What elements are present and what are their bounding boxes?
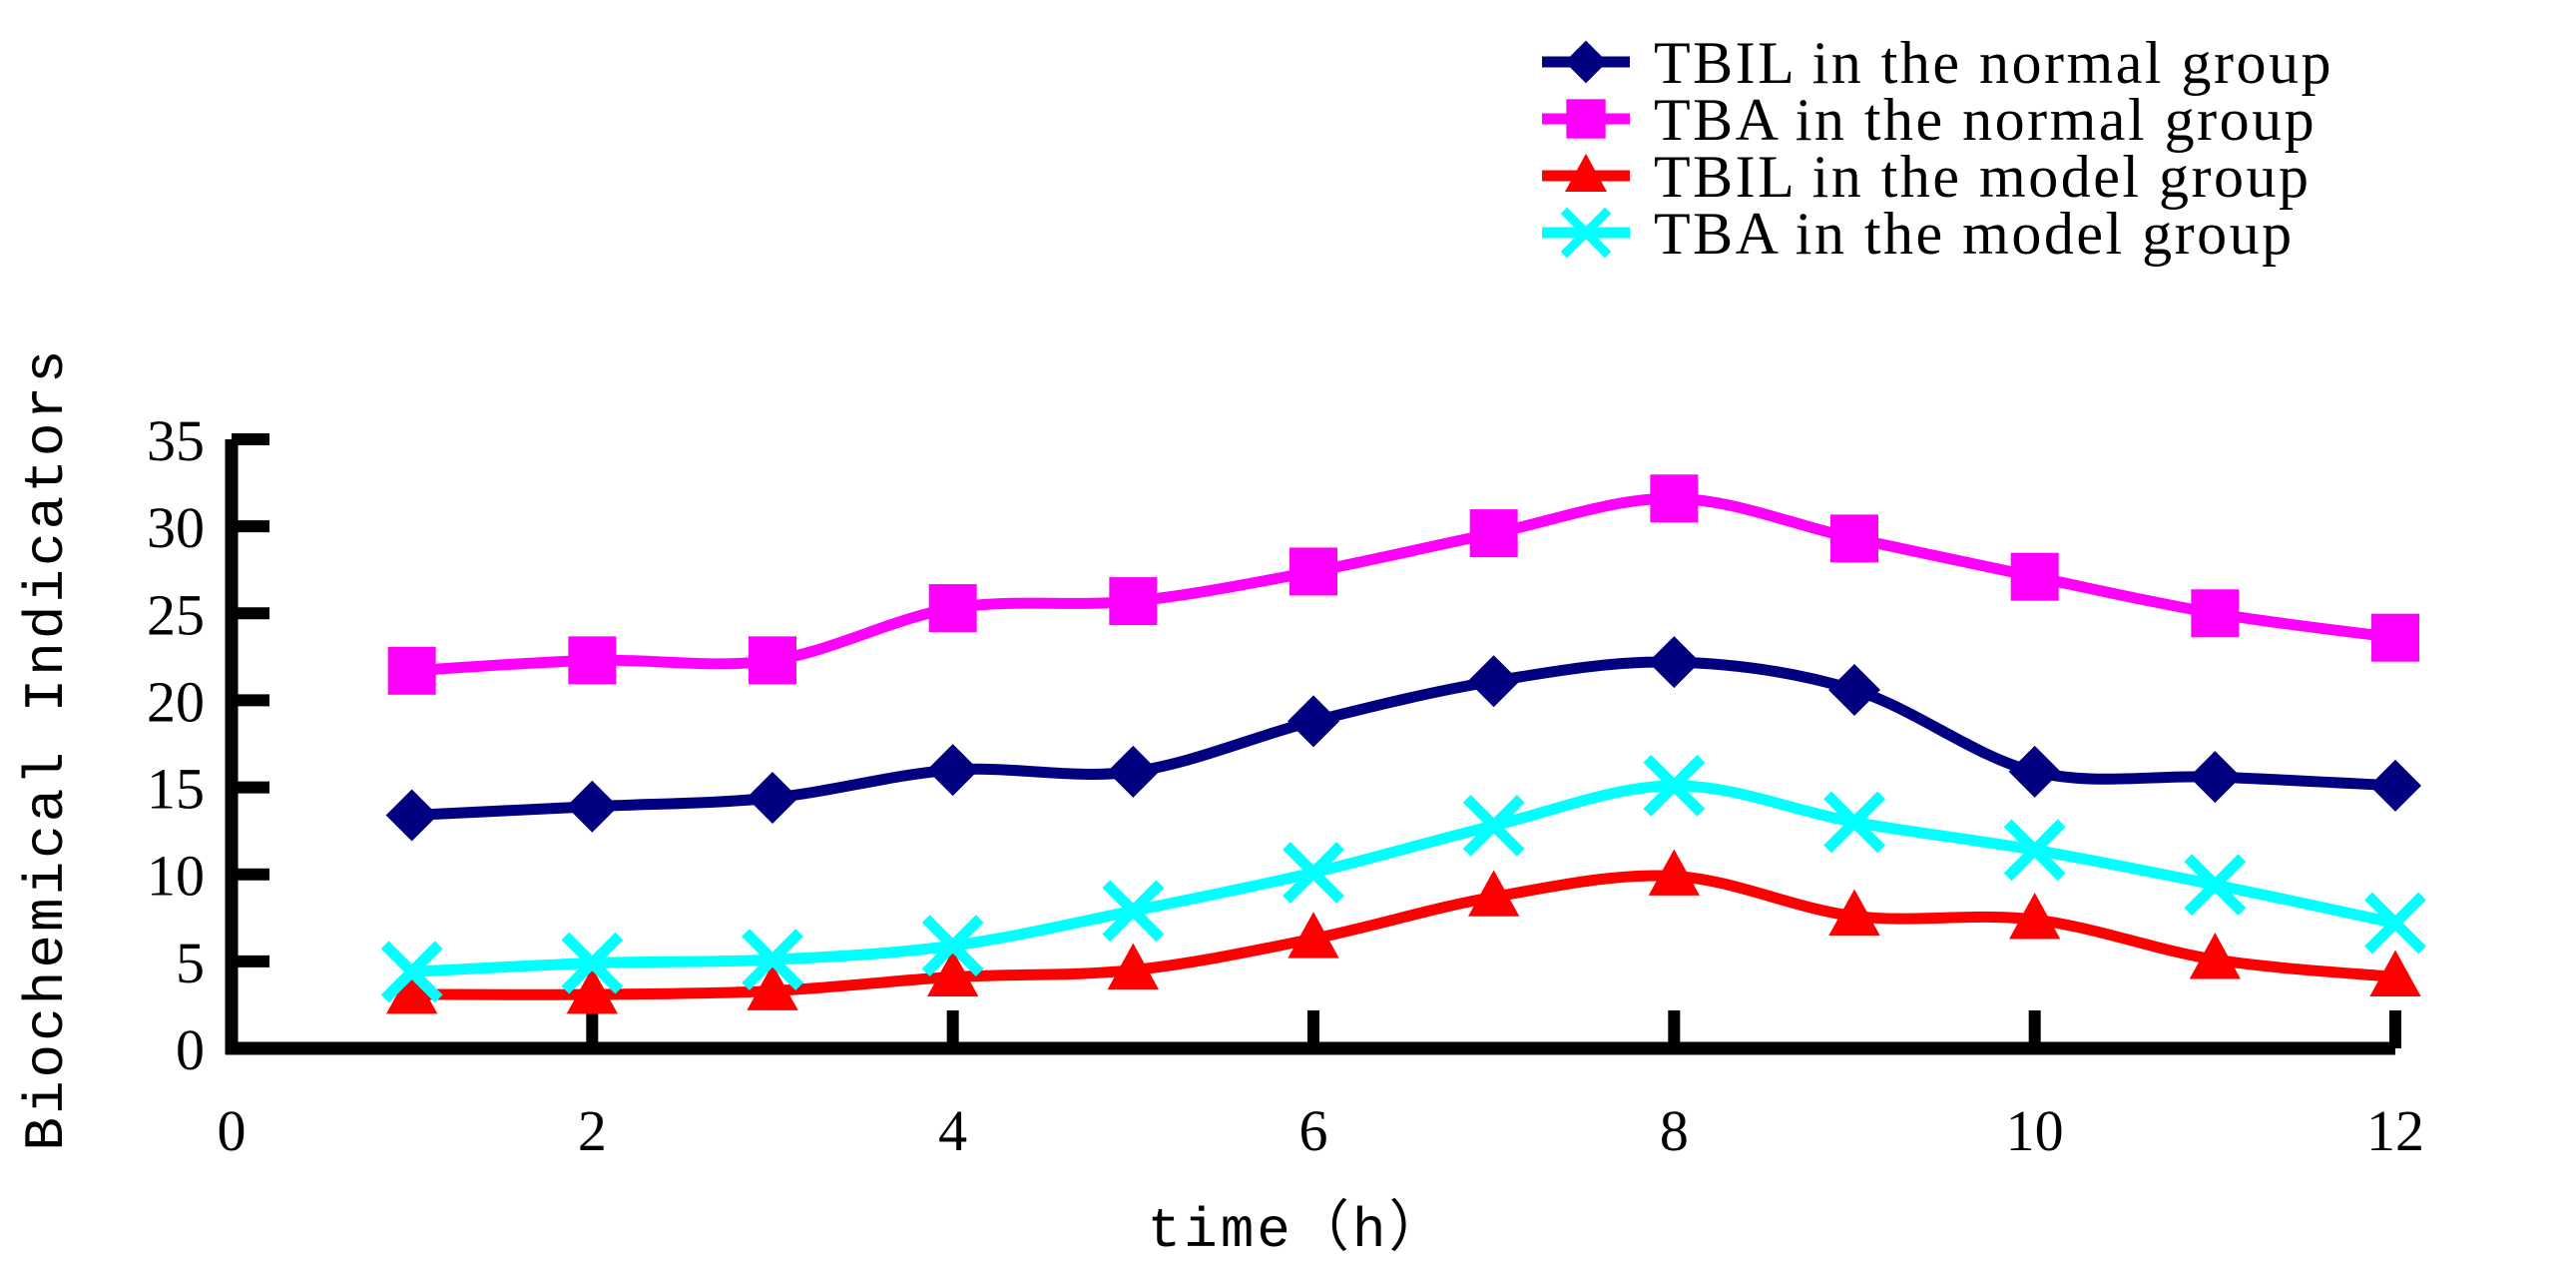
x-tick-label: 2 (578, 1098, 607, 1163)
y-axis-tick-labels: 05101520253035 (147, 408, 205, 1082)
y-tick-label: 0 (176, 1017, 205, 1082)
data-point-diamond (566, 781, 618, 833)
y-tick-label: 15 (147, 757, 205, 822)
data-point-diamond (2369, 760, 2421, 812)
data-point-diamond (1468, 655, 1520, 707)
y-tick-label: 30 (147, 495, 205, 560)
data-point-square (749, 636, 796, 684)
data-point-square (1470, 509, 1518, 557)
x-axis-title: time（h） (1147, 1198, 1447, 1263)
series-1 (412, 498, 2395, 671)
data-point-diamond (1288, 695, 1339, 747)
legend-item-label: TBA in the model group (1654, 201, 2295, 267)
chart-legend: TBIL in the normal groupTBA in the norma… (1542, 30, 2333, 267)
series-line (412, 876, 2395, 994)
data-series-layer (385, 474, 2422, 1013)
data-point-diamond (2189, 751, 2241, 803)
data-point-square (2371, 614, 2419, 662)
series-line (412, 786, 2395, 971)
data-point-diamond (2009, 746, 2061, 798)
y-tick-label: 5 (176, 931, 205, 995)
data-point-square (1109, 577, 1157, 625)
y-tick-label: 35 (147, 408, 205, 473)
data-point-square (2191, 589, 2239, 637)
x-tick-label: 6 (1299, 1098, 1328, 1163)
x-tick-label: 10 (2006, 1098, 2064, 1163)
y-tick-label: 25 (147, 582, 205, 647)
x-tick-label: 12 (2366, 1098, 2424, 1163)
y-axis-title: Biochemical Indicators (15, 346, 79, 1150)
line-chart: 05101520253035 024681012 TBIL in the nor… (0, 0, 2576, 1280)
data-point-square (929, 584, 977, 632)
series-0 (412, 662, 2395, 816)
data-point-square (388, 647, 436, 695)
x-tick-label: 4 (938, 1098, 967, 1163)
y-tick-label: 10 (147, 844, 205, 909)
data-point-diamond (1828, 664, 1880, 716)
chart-canvas: 05101520253035 024681012 TBIL in the nor… (0, 0, 2576, 1280)
data-point-diamond (927, 744, 979, 796)
x-axis-tick-labels: 024681012 (218, 1098, 2425, 1163)
data-point-diamond (386, 789, 438, 841)
data-point-square (1830, 514, 1878, 562)
x-tick-label: 0 (218, 1098, 247, 1163)
series-3 (412, 786, 2395, 971)
series-line (412, 498, 2395, 671)
data-point-square (1650, 474, 1698, 522)
data-point-diamond (1107, 746, 1159, 798)
series-line (412, 662, 2395, 816)
legend-marker-diamond-icon (1565, 41, 1608, 84)
y-tick-label: 20 (147, 669, 205, 734)
data-point-square (1289, 547, 1337, 595)
data-point-diamond (1648, 636, 1700, 688)
data-point-square (2011, 553, 2059, 601)
series-2 (412, 876, 2395, 994)
data-point-diamond (747, 772, 798, 824)
legend-item-3[interactable]: TBA in the model group (1542, 201, 2295, 267)
legend-marker-square-icon (1566, 99, 1605, 138)
x-tick-label: 8 (1660, 1098, 1689, 1163)
data-point-square (568, 636, 616, 684)
